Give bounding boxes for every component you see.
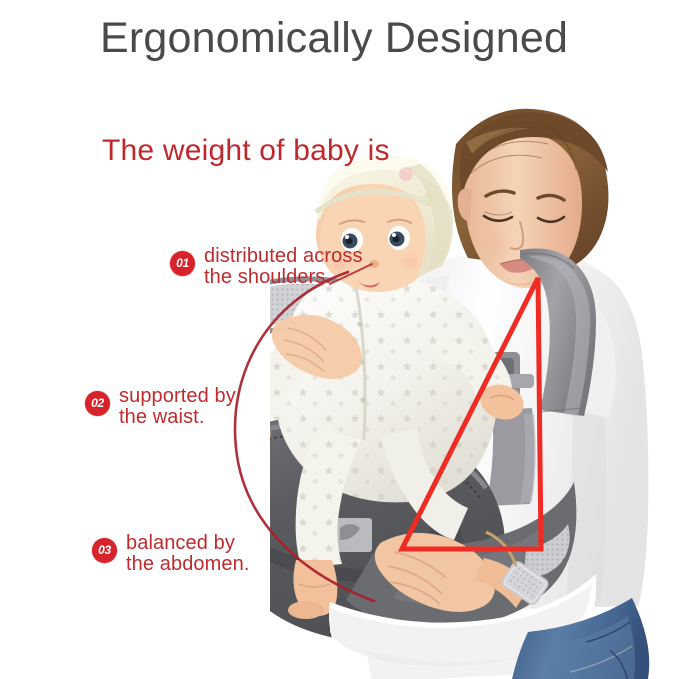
callout-03: 03 balanced by the abdomen.	[92, 538, 250, 576]
infographic-canvas: .	[0, 0, 679, 679]
callout-text-02: supported by the waist.	[119, 386, 236, 429]
callout-badge-02: 02	[85, 391, 110, 416]
callout-badge-03: 03	[92, 538, 117, 563]
callout-01: 01 distributed across the shoulders.	[170, 251, 363, 289]
callout-text-01: distributed across the shoulders.	[204, 246, 363, 289]
callout-text-03: balanced by the abdomen.	[126, 533, 250, 576]
subtitle: The weight of baby is	[102, 134, 390, 168]
callout-badge-01: 01	[170, 251, 195, 276]
page-title: Ergonomically Designed	[100, 14, 568, 63]
callout-02: 02 supported by the waist.	[85, 391, 236, 429]
